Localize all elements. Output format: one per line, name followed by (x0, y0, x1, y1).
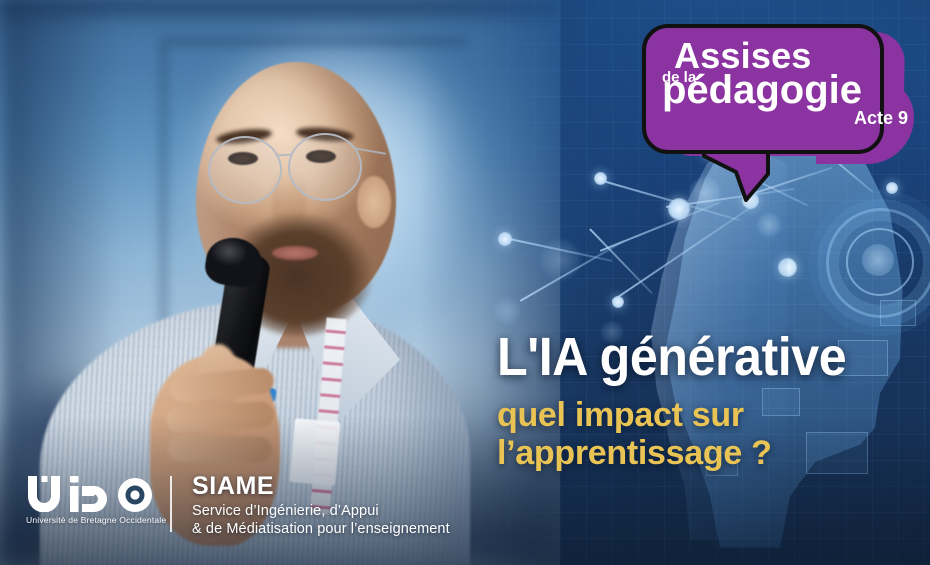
assises-speech-bubble-badge: Assises de la pédagogie Acte 9 (620, 18, 920, 178)
badge-text-group: Assises de la pédagogie Acte 9 (660, 38, 870, 109)
poster-subtitle-line-2: l’apprentissage ? (497, 434, 917, 472)
ubo-logo: Université de Bretagne Occidentale (26, 474, 154, 525)
poster-canvas: Assises de la pédagogie Acte 9 L'IA géné… (0, 0, 930, 565)
poster-subtitle-line-1: quel impact sur (497, 396, 917, 434)
ubo-wordmark-icon (26, 474, 154, 512)
footer-divider (170, 476, 172, 532)
siame-acronym: SIAME (192, 474, 450, 499)
poster-title-main: L'IA générative (497, 330, 888, 384)
ubo-subtitle: Université de Bretagne Occidentale (26, 515, 154, 525)
badge-line-pedagogie: pédagogie (662, 72, 870, 109)
ai-earpiece-core (862, 244, 894, 276)
siame-tagline-line-2: & de Médiatisation pour l’enseignement (192, 521, 450, 539)
speaker-finger-3 (168, 435, 272, 463)
speaker-mouth (272, 246, 318, 260)
eyeglasses-lens-left (208, 136, 282, 204)
footer-logo-bar: Université de Bretagne Occidentale SIAME… (26, 474, 450, 538)
poster-title-subtitle: quel impact sur l’apprentissage ? (497, 396, 917, 472)
eyeglasses-lens-right (288, 133, 362, 201)
siame-logo-text: SIAME Service d’Ingénierie, d’Appui & de… (192, 474, 450, 538)
poster-title-block: L'IA générative quel impact sur l’appren… (497, 330, 917, 472)
badge-act-label: Acte 9 (854, 108, 908, 129)
siame-tagline-line-1: Service d’Ingénierie, d’Appui (192, 503, 450, 521)
